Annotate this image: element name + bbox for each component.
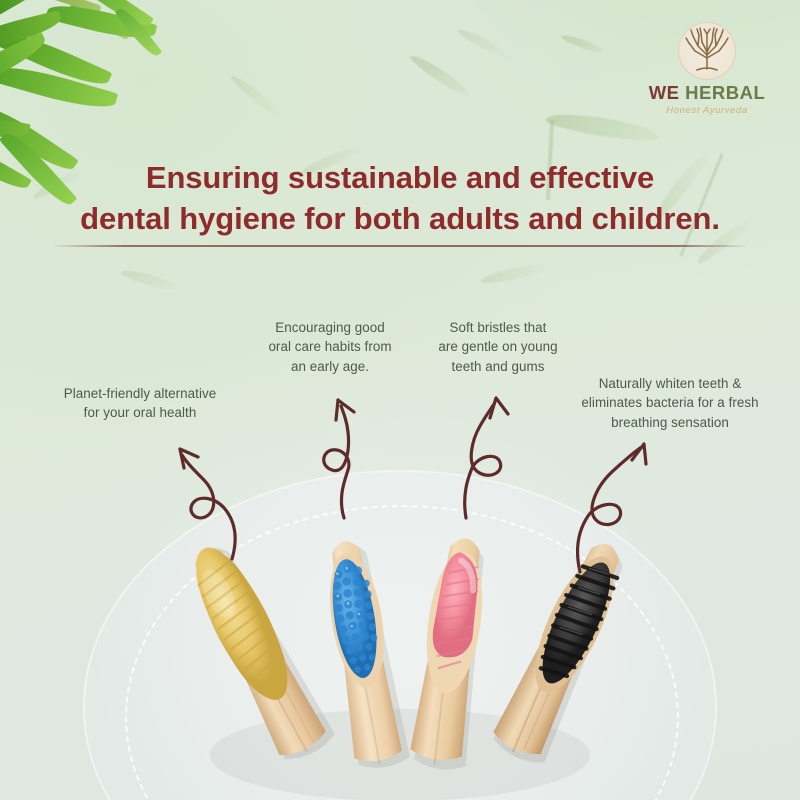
callout-early-habits: Encouraging good oral care habits from a…: [240, 318, 420, 376]
callout-line-2: oral care habits from: [240, 337, 420, 356]
curly-arrow-up-left-icon: [155, 435, 275, 565]
callout-line-1: Encouraging good: [240, 318, 420, 337]
callout-line-1: Planet-friendly alternative: [40, 384, 240, 403]
curly-arrow-up-right-icon: [558, 436, 678, 576]
callout-line-3: breathing sensation: [566, 413, 774, 432]
callout-soft-bristles: Soft bristles that are gentle on young t…: [414, 318, 582, 376]
callout-line-2: eliminates bacteria for a fresh: [566, 393, 774, 412]
callout-planet-friendly: Planet-friendly alternative for your ora…: [40, 384, 240, 423]
curly-arrow-up-icon: [448, 388, 558, 523]
callout-line-2: are gentle on young: [414, 337, 582, 356]
callout-whiten-teeth: Naturally whiten teeth & eliminates bact…: [566, 374, 774, 432]
curly-arrow-up-icon: [308, 388, 418, 523]
callout-line-1: Naturally whiten teeth &: [566, 374, 774, 393]
callout-line-2: for your oral health: [40, 403, 240, 422]
callout-line-3: teeth and gums: [414, 357, 582, 376]
callout-line-3: an early age.: [240, 357, 420, 376]
callout-line-1: Soft bristles that: [414, 318, 582, 337]
poster-canvas: WE HERBAL Honest Ayurveda Ensuring susta…: [0, 0, 800, 800]
